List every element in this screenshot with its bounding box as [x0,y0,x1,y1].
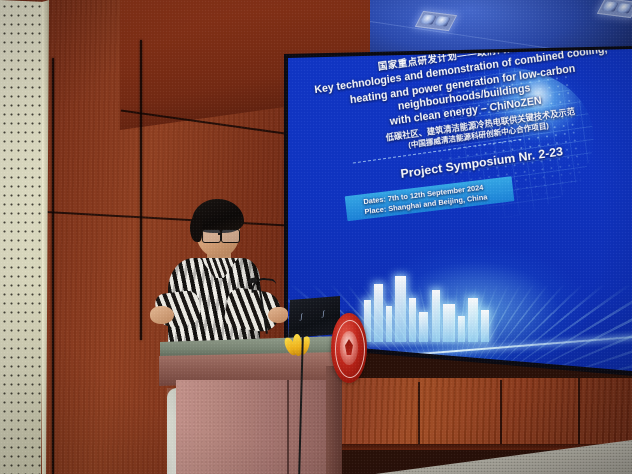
institution-seal [331,313,367,383]
lectern-body [176,380,326,474]
laptop-screen-glyph: ʃ [300,312,303,321]
wall-seam [140,40,142,340]
presenter-right-hand [268,307,288,323]
glasses-icon [221,229,240,243]
slide-text-block: 国家重点研发计划——政府间国际科技创新合作 Key technologies a… [286,46,632,229]
lower-wood-panel [340,378,632,450]
yellow-flower-decoration [286,334,310,360]
conference-photo-scene: 国家重点研发计划——政府间国际科技创新合作 Key technologies a… [0,0,632,474]
wall-seam [52,58,54,474]
lower-panel-seam [500,380,502,446]
lower-panel-seam [418,382,420,448]
presenter-hair-side [190,216,202,242]
lectern-seam [287,380,289,474]
laptop-screen-glyph: ʃ [322,309,325,318]
lower-panel-seam [578,378,580,444]
glasses-icon [202,229,221,243]
perforated-acoustic-panel [0,0,48,474]
presenter-left-hand [150,306,174,324]
ceiling-spotlight-icon [597,0,632,18]
glasses-bridge [218,233,222,235]
lectern-right-edge [326,366,342,474]
